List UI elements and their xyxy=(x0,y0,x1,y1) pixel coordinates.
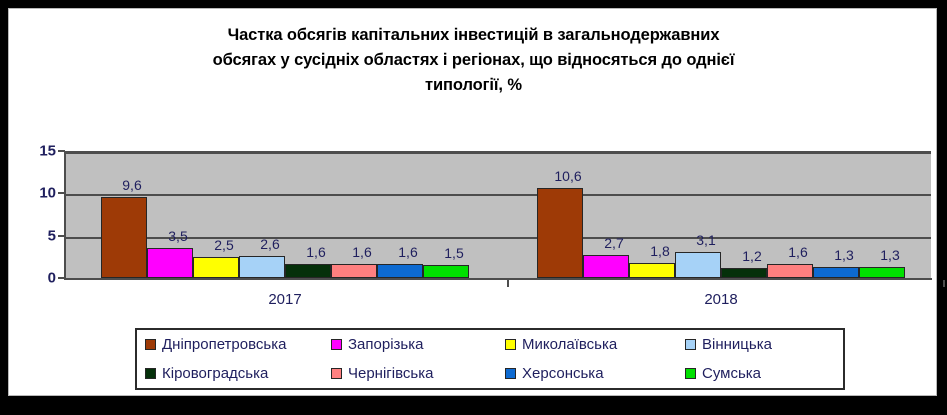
bar xyxy=(239,256,285,278)
y-axis-tick-label: 10 xyxy=(12,185,56,202)
x-axis-tick-mark xyxy=(943,280,945,287)
x-axis-category-label: 2017 xyxy=(268,291,301,308)
x-axis-category-label: 2018 xyxy=(704,291,737,308)
y-axis-tick-mark xyxy=(58,192,65,194)
legend-swatch-icon xyxy=(331,368,342,379)
legend-item[interactable]: Дніпропетровська xyxy=(145,336,331,353)
bar xyxy=(537,188,583,278)
y-axis xyxy=(64,151,66,280)
bar xyxy=(285,264,331,278)
bar-value-label: 1,3 xyxy=(880,247,899,263)
y-axis-tick-label: 15 xyxy=(12,143,56,160)
bar xyxy=(859,267,905,278)
bar-value-label: 2,7 xyxy=(604,235,623,251)
legend-swatch-icon xyxy=(685,368,696,379)
legend-label: Херсонська xyxy=(522,365,604,382)
bar xyxy=(583,255,629,278)
y-axis-tick-mark xyxy=(58,277,65,279)
legend-label: Дніпропетровська xyxy=(162,336,286,353)
bar xyxy=(629,263,675,278)
legend-swatch-icon xyxy=(505,339,516,350)
legend-label: Миколаївська xyxy=(522,336,617,353)
bar xyxy=(147,248,193,278)
chart-legend: ДніпропетровськаЗапорізькаМиколаївськаВі… xyxy=(135,328,845,390)
legend-item[interactable]: Запорізька xyxy=(331,336,505,353)
legend-swatch-icon xyxy=(145,368,156,379)
chart-title-line-2: обсягах у сусідніх областях і регіонах, … xyxy=(9,48,938,73)
bar xyxy=(377,264,423,278)
legend-item[interactable]: Вінницька xyxy=(685,336,849,353)
bar xyxy=(423,265,469,278)
bar-value-label: 1,6 xyxy=(352,244,371,260)
chart-frame: Частка обсягів капітальних інвестицій в … xyxy=(8,8,937,396)
bar-value-label: 2,5 xyxy=(214,237,233,253)
bar-value-label: 2,6 xyxy=(260,236,279,252)
legend-label: Запорізька xyxy=(348,336,423,353)
chart-title: Частка обсягів капітальних інвестицій в … xyxy=(9,23,938,98)
bar-value-label: 1,6 xyxy=(788,244,807,260)
bar-value-label: 1,5 xyxy=(444,245,463,261)
bar-value-label: 1,8 xyxy=(650,243,669,259)
legend-swatch-icon xyxy=(145,339,156,350)
bar-value-label: 10,6 xyxy=(554,168,581,184)
bar xyxy=(193,257,239,278)
gridline xyxy=(66,152,931,154)
legend-label: Кіровоградська xyxy=(162,365,268,382)
legend-label: Чернігівська xyxy=(348,365,433,382)
chart-title-line-1: Частка обсягів капітальних інвестицій в … xyxy=(9,23,938,48)
x-axis-tick-mark xyxy=(507,280,509,287)
bar-value-label: 1,3 xyxy=(834,247,853,263)
y-axis-tick-mark xyxy=(58,235,65,237)
legend-label: Вінницька xyxy=(702,336,772,353)
bar-value-label: 1,6 xyxy=(398,244,417,260)
legend-item[interactable]: Кіровоградська xyxy=(145,365,331,382)
legend-swatch-icon xyxy=(331,339,342,350)
y-axis-tick-label: 5 xyxy=(12,227,56,244)
legend-item[interactable]: Херсонська xyxy=(505,365,685,382)
bar xyxy=(101,197,147,278)
bar-value-label: 3,5 xyxy=(168,228,187,244)
bar xyxy=(331,264,377,278)
bar-value-label: 9,6 xyxy=(122,177,141,193)
gridline xyxy=(66,194,931,196)
legend-swatch-icon xyxy=(685,339,696,350)
legend-item[interactable]: Чернігівська xyxy=(331,365,505,382)
bar xyxy=(675,252,721,278)
y-axis-tick-label: 0 xyxy=(12,270,56,287)
legend-item[interactable]: Сумська xyxy=(685,365,849,382)
chart-title-line-3: типології, % xyxy=(9,73,938,98)
legend-label: Сумська xyxy=(702,365,761,382)
bar-value-label: 1,2 xyxy=(742,248,761,264)
bar xyxy=(767,264,813,278)
y-axis-labels: 051015 xyxy=(9,9,56,415)
bar xyxy=(813,267,859,278)
bar-value-label: 3,1 xyxy=(696,232,715,248)
bar-value-label: 1,6 xyxy=(306,244,325,260)
gridline xyxy=(66,237,931,239)
x-axis xyxy=(64,278,932,280)
legend-swatch-icon xyxy=(505,368,516,379)
bar xyxy=(721,268,767,278)
y-axis-tick-mark xyxy=(58,150,65,152)
legend-item[interactable]: Миколаївська xyxy=(505,336,685,353)
